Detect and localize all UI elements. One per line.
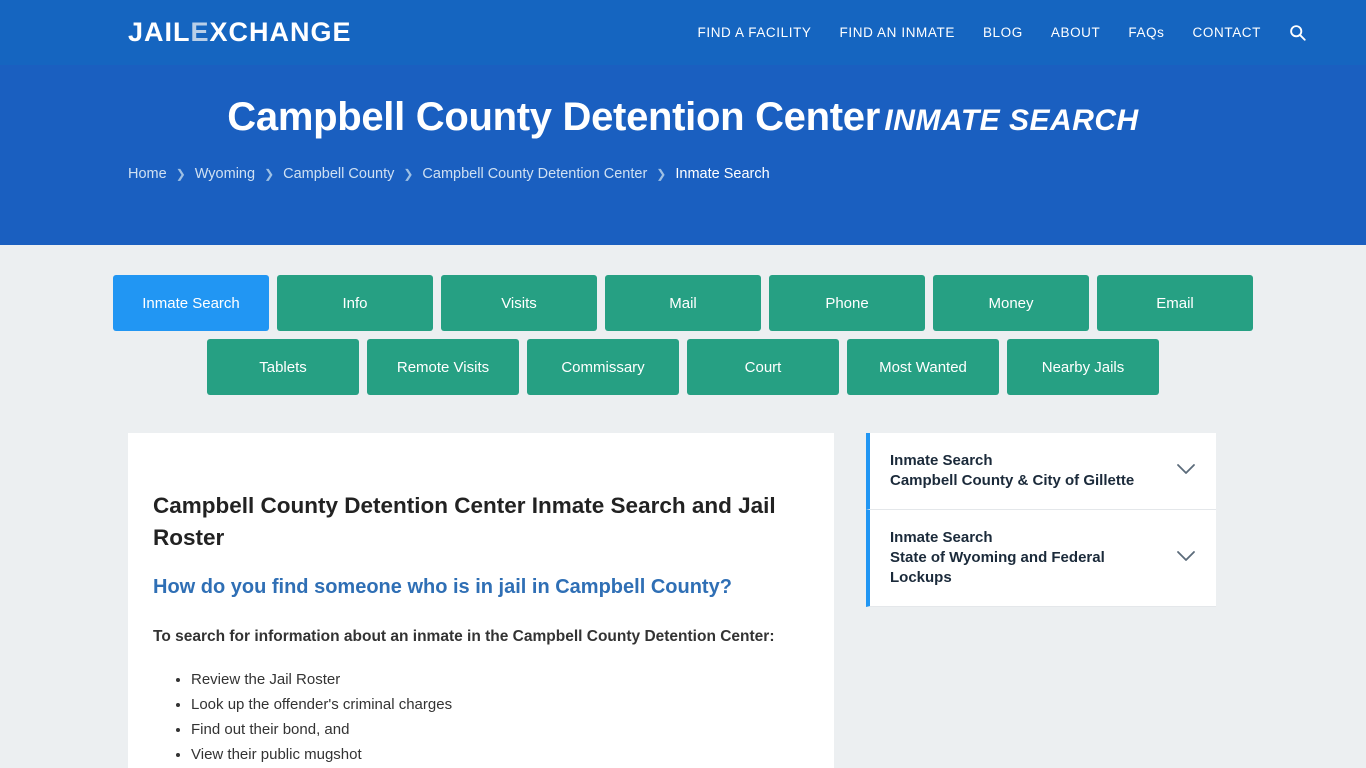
- tab-most-wanted[interactable]: Most Wanted: [847, 339, 999, 395]
- tab-mail[interactable]: Mail: [605, 275, 761, 331]
- accordion-title: Inmate Search: [890, 528, 1166, 548]
- site-logo[interactable]: JAILEXCHANGE: [128, 17, 352, 48]
- nav-item-find-an-inmate[interactable]: FIND AN INMATE: [840, 25, 955, 40]
- breadcrumb-item-wyoming[interactable]: Wyoming: [195, 166, 255, 182]
- breadcrumb-chevron-icon: ❯: [403, 167, 413, 181]
- breadcrumb-item-facility[interactable]: Campbell County Detention Center: [422, 166, 647, 182]
- nav-item-blog[interactable]: BLOG: [983, 25, 1023, 40]
- breadcrumb-item-current: Inmate Search: [675, 166, 769, 182]
- hero-banner: Campbell County Detention Center INMATE …: [0, 65, 1366, 245]
- accordion-inmate-search-county[interactable]: Inmate Search Campbell County & City of …: [866, 433, 1216, 510]
- page-title-main: Campbell County Detention Center: [227, 95, 880, 139]
- tab-row-primary: Inmate Search Info Visits Mail Phone Mon…: [0, 275, 1366, 331]
- list-item: Review the Jail Roster: [191, 667, 784, 692]
- search-icon[interactable]: [1289, 24, 1306, 41]
- site-header: JAILEXCHANGE FIND A FACILITY FIND AN INM…: [0, 0, 1366, 65]
- chevron-down-icon[interactable]: [1176, 549, 1196, 567]
- chevron-down-icon[interactable]: [1176, 462, 1196, 480]
- logo-part-xchange: XCHANGE: [210, 17, 352, 47]
- article-heading: Campbell County Detention Center Inmate …: [153, 490, 784, 554]
- logo-part-jail: JAIL: [128, 17, 191, 47]
- page-title-sub: INMATE SEARCH: [884, 104, 1138, 137]
- breadcrumb: Home ❯ Wyoming ❯ Campbell County ❯ Campb…: [0, 166, 1366, 182]
- article-panel: Campbell County Detention Center Inmate …: [128, 433, 834, 768]
- logo-part-e: E: [191, 17, 210, 47]
- breadcrumb-chevron-icon: ❯: [176, 167, 186, 181]
- breadcrumb-chevron-icon: ❯: [264, 167, 274, 181]
- nav-item-faqs[interactable]: FAQs: [1128, 25, 1164, 40]
- main-navigation: FIND A FACILITY FIND AN INMATE BLOG ABOU…: [698, 24, 1337, 41]
- tab-row-secondary: Tablets Remote Visits Commissary Court M…: [0, 339, 1366, 395]
- accordion-subtitle: Campbell County & City of Gillette: [890, 471, 1166, 491]
- tab-visits[interactable]: Visits: [441, 275, 597, 331]
- tab-court[interactable]: Court: [687, 339, 839, 395]
- sidebar: Inmate Search Campbell County & City of …: [866, 433, 1216, 607]
- tab-email[interactable]: Email: [1097, 275, 1253, 331]
- main-content: Campbell County Detention Center Inmate …: [0, 403, 1366, 768]
- tab-nearby-jails[interactable]: Nearby Jails: [1007, 339, 1159, 395]
- accordion-label-group: Inmate Search Campbell County & City of …: [890, 451, 1166, 491]
- tab-commissary[interactable]: Commissary: [527, 339, 679, 395]
- tab-tablets[interactable]: Tablets: [207, 339, 359, 395]
- list-item: Look up the offender's criminal charges: [191, 692, 784, 717]
- page-title: Campbell County Detention Center INMATE …: [0, 95, 1366, 140]
- breadcrumb-chevron-icon: ❯: [656, 167, 666, 181]
- accordion-subtitle: State of Wyoming and Federal Lockups: [890, 548, 1166, 588]
- list-item: View their public mugshot: [191, 742, 784, 767]
- accordion-label-group: Inmate Search State of Wyoming and Feder…: [890, 528, 1166, 588]
- article-bullet-list: Review the Jail Roster Look up the offen…: [191, 667, 784, 767]
- nav-item-find-a-facility[interactable]: FIND A FACILITY: [698, 25, 812, 40]
- accordion-title: Inmate Search: [890, 451, 1166, 471]
- tab-info[interactable]: Info: [277, 275, 433, 331]
- accordion-inmate-search-state[interactable]: Inmate Search State of Wyoming and Feder…: [866, 510, 1216, 607]
- tab-money[interactable]: Money: [933, 275, 1089, 331]
- tab-navigation: Inmate Search Info Visits Mail Phone Mon…: [0, 245, 1366, 395]
- breadcrumb-item-home[interactable]: Home: [128, 166, 167, 182]
- tab-remote-visits[interactable]: Remote Visits: [367, 339, 519, 395]
- breadcrumb-item-campbell-county[interactable]: Campbell County: [283, 166, 394, 182]
- tab-phone[interactable]: Phone: [769, 275, 925, 331]
- nav-item-about[interactable]: ABOUT: [1051, 25, 1101, 40]
- tab-inmate-search[interactable]: Inmate Search: [113, 275, 269, 331]
- list-item: Find out their bond, and: [191, 717, 784, 742]
- article-subheading: How do you find someone who is in jail i…: [153, 576, 784, 599]
- article-intro: To search for information about an inmat…: [153, 625, 784, 649]
- nav-item-contact[interactable]: CONTACT: [1193, 25, 1261, 40]
